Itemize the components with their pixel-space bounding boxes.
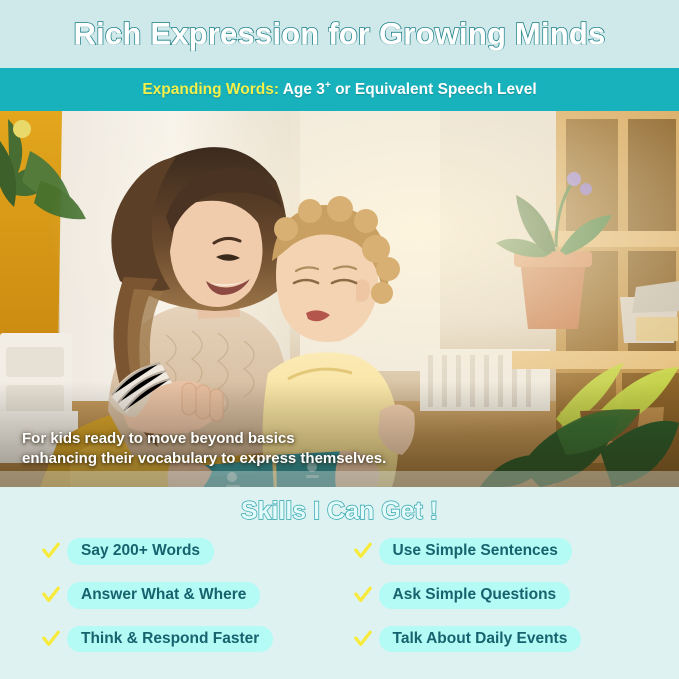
check-icon — [354, 542, 372, 560]
skill-item[interactable]: Answer What & Where — [42, 582, 354, 609]
subtitle-band: Expanding Words: Age 3+ or Equivalent Sp… — [0, 68, 679, 111]
skill-label: Answer What & Where — [67, 582, 260, 609]
skill-label: Use Simple Sentences — [379, 538, 572, 565]
skill-item[interactable]: Talk About Daily Events — [354, 626, 666, 653]
skill-label: Talk About Daily Events — [379, 626, 582, 653]
skills-grid: Say 200+ Words Use Simple Sentences Answ… — [0, 538, 679, 652]
subtitle-accent: Expanding Words: — [142, 81, 279, 98]
photo-caption: For kids ready to move beyond basicsenha… — [22, 429, 386, 469]
skill-item[interactable]: Think & Respond Faster — [42, 626, 354, 653]
caption-line-1: For kids ready to move beyond basics — [22, 430, 295, 447]
check-icon — [354, 586, 372, 604]
lifestyle-photo: eth panda — [0, 111, 679, 487]
subtitle-rest-after: or Equivalent Speech Level — [331, 81, 537, 98]
subtitle-rest-before: Age 3 — [279, 81, 325, 98]
check-icon — [42, 630, 60, 648]
skills-section: Skills I Can Get ! Say 200+ Words Use Si… — [0, 487, 679, 679]
check-icon — [42, 542, 60, 560]
skill-label: Ask Simple Questions — [379, 582, 571, 609]
skill-item[interactable]: Ask Simple Questions — [354, 582, 666, 609]
skills-title: Skills I Can Get ! — [0, 497, 679, 526]
skill-label: Say 200+ Words — [67, 538, 214, 565]
skill-item[interactable]: Use Simple Sentences — [354, 538, 666, 565]
skill-label: Think & Respond Faster — [67, 626, 273, 653]
product-infographic: Rich Expression for Growing Minds Expand… — [0, 0, 679, 679]
skill-item[interactable]: Say 200+ Words — [42, 538, 354, 565]
caption-line-2: enhancing their vocabulary to express th… — [22, 450, 386, 467]
page-title: Rich Expression for Growing Minds — [74, 16, 606, 52]
check-icon — [42, 586, 60, 604]
header-band: Rich Expression for Growing Minds — [0, 0, 679, 68]
subtitle-text: Expanding Words: Age 3+ or Equivalent Sp… — [142, 80, 536, 99]
check-icon — [354, 630, 372, 648]
